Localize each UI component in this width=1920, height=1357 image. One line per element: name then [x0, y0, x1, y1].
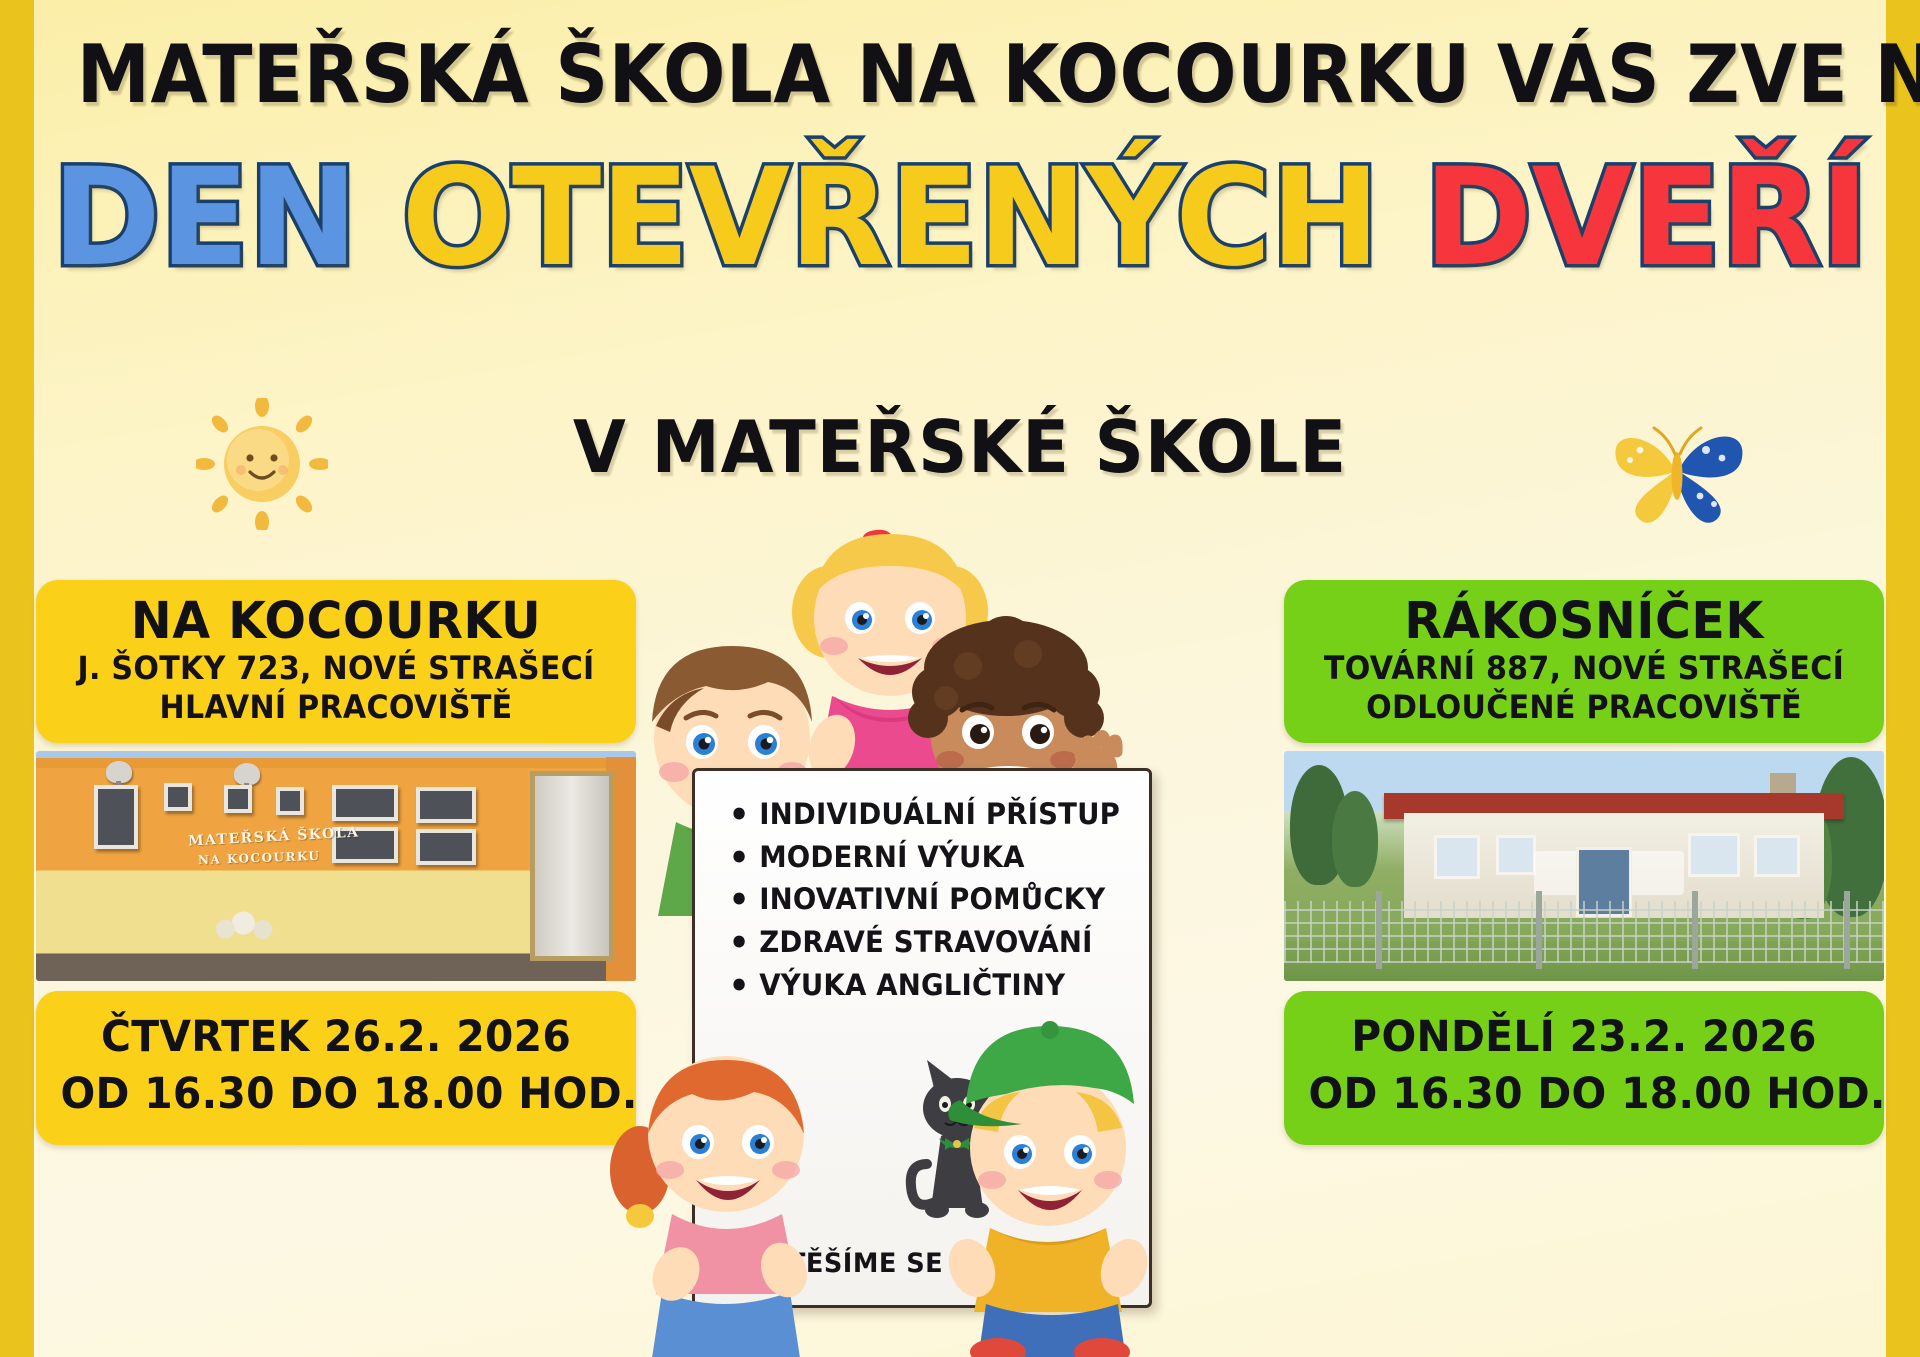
right-date-box: PONDĚLÍ 23.2. 2026 OD 16.30 DO 18.00 HOD…	[1284, 991, 1884, 1145]
right-info-box: RÁKOSNÍČEK TOVÁRNÍ 887, NOVÉ STRAŠECÍ OD…	[1284, 580, 1884, 743]
left-event-date: ČTVRTEK 26.2. 2026	[61, 1009, 612, 1066]
left-school-photo: MATEŘSKÁ ŠKOLA NA KOCOURKU	[36, 751, 636, 981]
center-illustration: INDIVIDUÁLNÍ PŘÍSTUP MODERNÍ VÝUKA INOVA…	[620, 500, 1300, 1357]
left-school-role: HLAVNÍ PRACOVIŠTĚ	[67, 688, 605, 727]
left-school-address: J. ŠOTKY 723, NOVÉ STRAŠECÍ	[67, 649, 605, 688]
poster: MATEŘSKÁ ŠKOLA NA KOCOURKU VÁS ZVE NA DE…	[0, 0, 1920, 1357]
right-event-date: PONDĚLÍ 23.2. 2026	[1309, 1009, 1860, 1066]
right-school-photo	[1284, 751, 1884, 981]
list-item: ZDRAVÉ STRAVOVÁNÍ	[725, 921, 1120, 964]
feature-list: INDIVIDUÁLNÍ PŘÍSTUP MODERNÍ VÝUKA INOVA…	[725, 793, 1141, 1006]
butterfly-icon	[1596, 410, 1756, 530]
headline-word-otevrenych: OTEVŘENÝCH	[402, 139, 1424, 296]
headline-word-den: DEN	[52, 139, 401, 296]
left-panel: NA KOCOURKU J. ŠOTKY 723, NOVÉ STRAŠECÍ …	[36, 580, 636, 1145]
poster-invitation-line: MATEŘSKÁ ŠKOLA NA KOCOURKU VÁS ZVE NA	[77, 34, 1843, 116]
right-panel: RÁKOSNÍČEK TOVÁRNÍ 887, NOVÉ STRAŠECÍ OD…	[1284, 580, 1884, 1145]
list-item: INOVATIVNÍ POMŮCKY	[725, 878, 1120, 921]
right-event-time: OD 16.30 DO 18.00 HOD.	[1309, 1066, 1860, 1123]
left-date-box: ČTVRTEK 26.2. 2026 OD 16.30 DO 18.00 HOD…	[36, 991, 636, 1145]
list-item: MODERNÍ VÝUKA	[725, 836, 1120, 879]
left-info-box: NA KOCOURKU J. ŠOTKY 723, NOVÉ STRAŠECÍ …	[36, 580, 636, 743]
poster-headline: DEN OTEVŘENÝCH DVEŘÍ	[29, 150, 1891, 285]
list-item: INDIVIDUÁLNÍ PŘÍSTUP	[725, 793, 1120, 836]
left-photo-sign-line2: NA KOCOURKU	[198, 849, 321, 867]
left-event-time: OD 16.30 DO 18.00 HOD.	[61, 1066, 612, 1123]
sun-icon	[196, 398, 328, 530]
headline-word-dveri: DVEŘÍ	[1424, 139, 1868, 296]
right-school-name: RÁKOSNÍČEK	[1309, 594, 1858, 649]
left-school-name: NA KOCOURKU	[61, 594, 610, 649]
right-school-address: TOVÁRNÍ 887, NOVÉ STRAŠECÍ	[1315, 649, 1853, 688]
kid-boy-greencap	[938, 1000, 1188, 1357]
right-school-role: ODLOUČENÉ PRACOVIŠTĚ	[1315, 688, 1853, 727]
kid-girl-redhair	[588, 1038, 838, 1357]
